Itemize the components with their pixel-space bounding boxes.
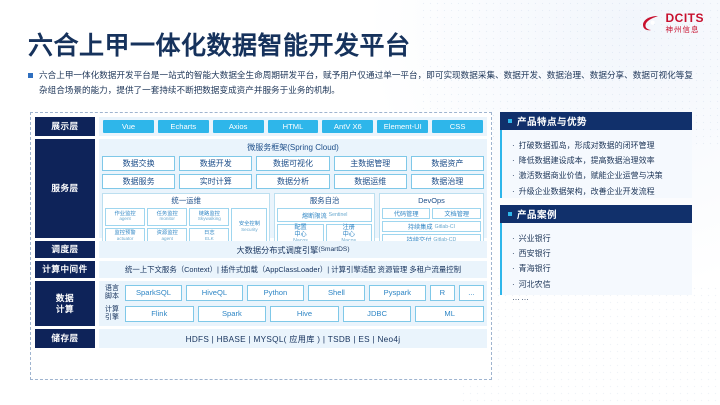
script-label: 语言 脚本 [102,285,122,302]
square-marker-icon [508,119,512,123]
tech-tag[interactable]: Element-UI [377,120,428,133]
intro-paragraph: 六合上甲一体化数据开发平台是一站式的智能大数据全生命周期研发平台，赋予用户仅通过… [28,68,693,98]
service-box[interactable]: 实时计算 [179,174,252,189]
cases-panel-header: 产品案例 [500,205,692,223]
service-box-row-1: 数据交换 数据开发 数据可视化 主数据管理 数据资产 [102,156,484,171]
scheduler-title: 大数据分布式调度引擎 [236,244,318,256]
cases-panel-body: · 兴业银行 · 西安银行 · 青海银行 · 河北农信 …… [500,223,692,295]
service-box[interactable]: 数据可视化 [256,156,329,171]
ci-en: Gitlab-CI [435,224,455,230]
tech-tag[interactable]: Axios [213,120,264,133]
features-panel: 产品特点与优势 · 打破数据孤岛，形成对数据的闭环管理 · 降低数据建设成本，提… [500,112,692,198]
list-item: · 青海银行 [512,261,686,276]
storage-text: HDFS | HBASE | MYSQL( 应用库 ) | TSDB | ES … [186,333,401,345]
circuit-breaker-en: Sentinel [329,212,348,218]
list-item: · 兴业银行 [512,231,686,246]
engine-label-line2: 引擎 [105,314,119,321]
ci-box[interactable]: 持续集成 Gitlab-CI [382,221,481,232]
list-item-label: 降低数据建设成本，提高数据治理效率 [519,153,655,168]
presentation-tag-row: Vue Echarts Axios HTML AntV X6 Element-U… [99,117,487,136]
script-chip[interactable]: Shell [308,285,365,301]
ops-panel-title: 统一运维 [105,196,267,206]
layer-label-compute: 数据 计算 [35,281,95,326]
service-box[interactable]: 主数据管理 [334,156,407,171]
brand-logo: DCITS 神州信息 [641,12,705,34]
intro-text: 六合上甲一体化数据开发平台是一站式的智能大数据全生命周期研发平台，赋予用户仅通过… [39,68,693,98]
dcits-swirl-icon [641,13,661,33]
scheduler-code: (SmartDS) [318,246,349,253]
layer-label-column: 展示层 服务层 调度层 计算中间件 数据 计算 储存层 [35,117,95,375]
ops-item[interactable]: 作业监控 agent [105,208,145,226]
bullet-dot-icon: · [512,138,515,153]
layer-label-middleware: 计算中间件 [35,261,95,278]
list-item: · 河北农信 [512,277,686,292]
script-chip[interactable]: Pyspark [369,285,426,301]
layer-label-service: 服务层 [35,139,95,238]
script-row: 语言 脚本 SparkSQL HiveQL Python Shell Pyspa… [102,284,484,302]
engine-label: 计算 引擎 [102,306,122,323]
governance-panel-title: 服务自治 [277,196,371,206]
service-box[interactable]: 数据服务 [102,174,175,189]
list-item: · 升级企业数据架构，改善企业开发流程 [512,184,686,199]
middleware-block: 统一上下文服务（Context）| 插件式加载（AppClassLoader）|… [99,261,487,278]
ops-item-en: agent [119,217,131,222]
layer-label-presentation: 展示层 [35,117,95,136]
script-chip-more[interactable]: ... [459,285,484,301]
list-item: · 激活数据商业价值，赋能企业运营与决策 [512,168,686,183]
tech-tag[interactable]: AntV X6 [322,120,373,133]
script-label-line2: 脚本 [105,293,119,300]
list-item-label: 激活数据商业价值，赋能企业运营与决策 [519,168,663,183]
engine-chip[interactable]: Spark [198,306,267,322]
devops-item[interactable]: 代码管理 [382,208,431,219]
devops-panel-title: DevOps [382,196,481,206]
service-box[interactable]: 数据资产 [411,156,484,171]
engine-chip[interactable]: Hive [270,306,339,322]
script-chip[interactable]: HiveQL [186,285,243,301]
logo-text-cn: 神州信息 [666,26,705,34]
list-item-label: 兴业银行 [519,231,551,246]
middleware-text: 统一上下文服务（Context）| 插件式加载（AppClassLoader）|… [125,264,461,275]
compute-block: 语言 脚本 SparkSQL HiveQL Python Shell Pyspa… [99,281,487,326]
circuit-breaker-box[interactable]: 熔断限流 Sentinel [277,208,371,222]
engine-chip[interactable]: ML [415,306,484,322]
bullet-dot-icon: · [512,231,515,246]
list-item: · 打破数据孤岛，形成对数据的闭环管理 [512,138,686,153]
tech-tag[interactable]: Vue [103,120,154,133]
list-item: · 西安银行 [512,246,686,261]
layer-label-compute-line2: 计算 [56,304,74,314]
architecture-diagram: 展示层 服务层 调度层 计算中间件 数据 计算 储存层 Vue Echarts [30,112,492,380]
tech-tag[interactable]: CSS [432,120,483,133]
features-panel-body: · 打破数据孤岛，形成对数据的闭环管理 · 降低数据建设成本，提高数据治理效率 … [500,130,692,198]
service-box[interactable]: 数据开发 [179,156,252,171]
security-control-en: Security [241,227,258,232]
layer-label-scheduler: 调度层 [35,241,95,258]
bullet-dot-icon: · [512,246,515,261]
list-item-label: 西安银行 [519,246,551,261]
square-bullet-icon [28,73,33,78]
list-item: · 降低数据建设成本，提高数据治理效率 [512,153,686,168]
ops-item-en: Skywalking [198,217,221,222]
service-box-row-2: 数据服务 实时计算 数据分析 数据运维 数据治理 [102,174,484,189]
cases-panel-title: 产品案例 [517,207,557,221]
script-label-line1: 语言 [105,285,119,292]
square-marker-icon [508,212,512,216]
page-title: 六合上甲一体化数据智能开发平台 [28,26,411,62]
microservice-framework-label: 微服务框架(Spring Cloud) [102,142,484,153]
service-layer-block: 微服务框架(Spring Cloud) 数据交换 数据开发 数据可视化 主数据管… [99,139,487,238]
storage-block: HDFS | HBASE | MYSQL( 应用库 ) | TSDB | ES … [99,329,487,348]
tech-tag[interactable]: HTML [268,120,319,133]
cases-ellipsis: …… [512,292,686,305]
list-item-label: 河北农信 [519,277,551,292]
devops-item[interactable]: 文档管理 [432,208,481,219]
service-box[interactable]: 数据治理 [411,174,484,189]
logo-text-en: DCITS [666,12,705,24]
list-item-label: 升级企业数据架构，改善企业开发流程 [519,184,655,199]
circuit-breaker-cn: 熔断限流 [302,211,327,220]
features-panel-header: 产品特点与优势 [500,112,692,130]
service-box[interactable]: 数据运维 [334,174,407,189]
security-control-box[interactable]: 安全控制 Security [231,208,267,245]
service-box[interactable]: 数据交换 [102,156,175,171]
ops-item[interactable]: 任务监控 monitor [147,208,187,226]
ops-item-en: monitor [160,217,175,222]
layer-label-storage: 储存层 [35,329,95,348]
service-box[interactable]: 数据分析 [256,174,329,189]
bullet-dot-icon: · [512,261,515,276]
layer-label-compute-line1: 数据 [56,293,74,303]
cases-panel: 产品案例 · 兴业银行 · 西安银行 · 青海银行 · 河北农信 …… [500,205,692,295]
script-chip[interactable]: SparkSQL [125,285,182,301]
engine-label-line1: 计算 [105,306,119,313]
engine-chip[interactable]: Flink [125,306,194,322]
ci-cn: 持续集成 [408,222,433,231]
script-chip[interactable]: Python [247,285,304,301]
tech-tag[interactable]: Echarts [158,120,209,133]
slide-root: DCITS 神州信息 六合上甲一体化数据智能开发平台 六合上甲一体化数据开发平台… [0,0,720,405]
list-item-label: 青海银行 [519,261,551,276]
script-chip[interactable]: R [430,285,455,301]
ops-item[interactable]: 链路监控 Skywalking [189,208,229,226]
engine-chip[interactable]: JDBC [343,306,412,322]
devops-item-label: 代码管理 [394,209,419,218]
devops-item-label: 文档管理 [444,209,469,218]
features-panel-title: 产品特点与优势 [517,114,587,128]
bullet-dot-icon: · [512,168,515,183]
bullet-dot-icon: · [512,184,515,199]
scheduler-block: 大数据分布式调度引擎 (SmartDS) [99,241,487,258]
engine-row: 计算 引擎 Flink Spark Hive JDBC ML [102,305,484,323]
list-item-label: 打破数据孤岛，形成对数据的闭环管理 [519,138,655,153]
bullet-dot-icon: · [512,153,515,168]
bullet-dot-icon: · [512,277,515,292]
